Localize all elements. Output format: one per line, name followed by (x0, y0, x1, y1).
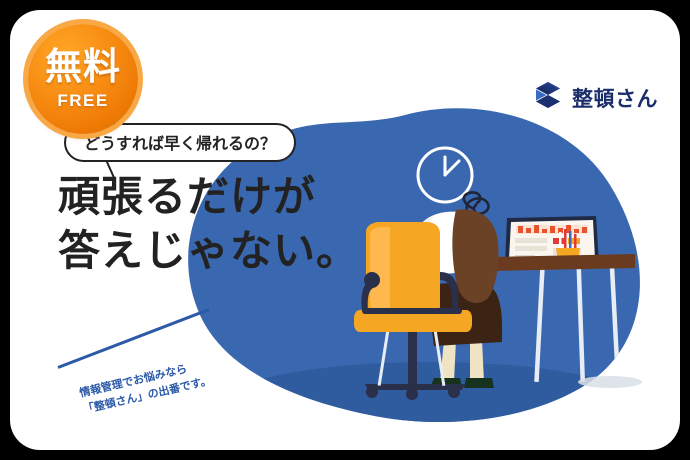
laptop (505, 216, 599, 263)
wall-clock-icon (418, 148, 472, 202)
speech-bubble-text: どうすれば早く帰れるの？ (84, 130, 276, 154)
headline-line-2: 答えじゃない。 (58, 224, 359, 278)
person-hair (452, 209, 498, 303)
pencil-cup (556, 229, 580, 268)
tagline-text: 情報管理でお悩みなら 「整頓さん」の出番です。 (78, 357, 213, 420)
page-title: 頑張るだけが 答えじゃない。 (58, 170, 359, 278)
office-chair (354, 222, 472, 400)
person-legs (430, 340, 494, 388)
laptop-chart-bars (518, 225, 587, 233)
logo[interactable]: 整頓さん (533, 80, 658, 115)
desk-top (440, 254, 635, 272)
person-body (428, 283, 502, 346)
free-badge: 無料 FREE (28, 24, 138, 134)
desk-legs (534, 266, 620, 382)
headline-line-1: 頑張るだけが (58, 170, 359, 224)
free-badge-main-label: 無料 (45, 48, 121, 85)
logo-text: 整頓さん (572, 83, 658, 113)
tagline: 情報管理でお悩みなら 「整頓さん」の出番です。 (52, 294, 302, 404)
free-badge-sub-label: FREE (57, 91, 108, 111)
dizzy-spiral-icon (464, 192, 489, 223)
promo-banner: 整頓さん どうすれば早く帰れるの？ 頑張るだけが 答えじゃない。 情報管理でお悩… (0, 0, 690, 460)
logo-mark-icon (533, 80, 563, 115)
banner-card: 整頓さん どうすれば早く帰れるの？ 頑張るだけが 答えじゃない。 情報管理でお悩… (10, 10, 680, 450)
person-shirt (412, 212, 498, 274)
desk-shadow (578, 376, 642, 388)
